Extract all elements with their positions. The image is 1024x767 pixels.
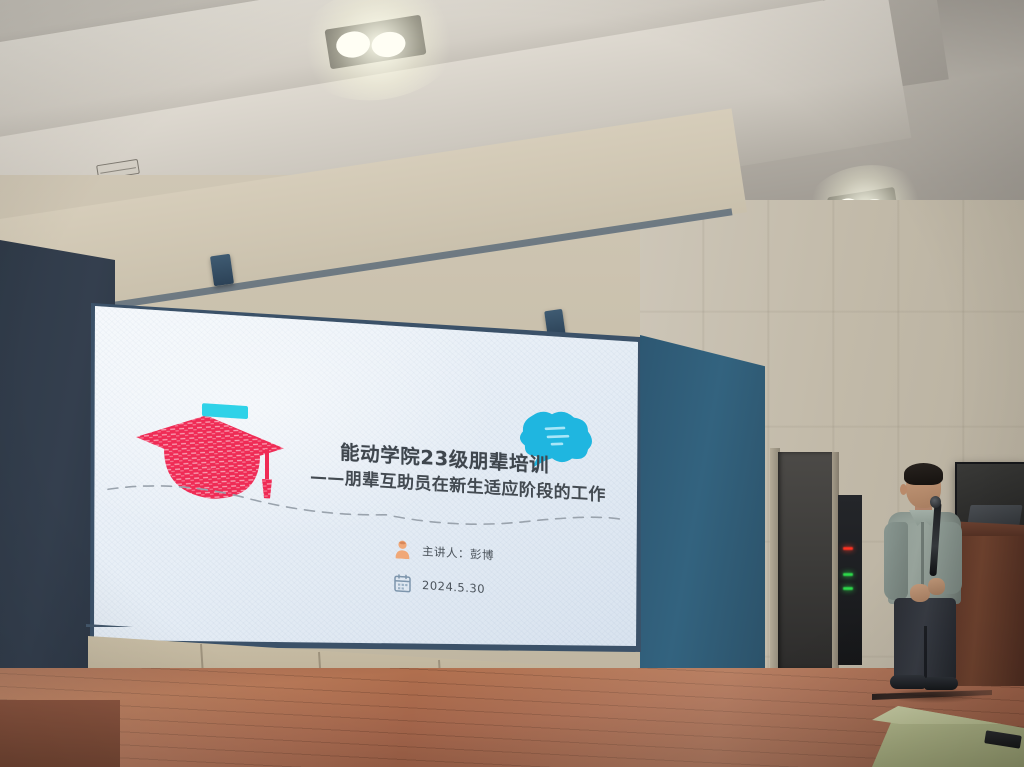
microphone-capsule — [930, 496, 941, 508]
rack-led-green-icon — [843, 573, 853, 576]
lecture-hall-scene: 能动学院23级朋辈培训 ——朋辈互助员在新生适应阶段的工作 — [0, 0, 1024, 767]
right-teal-wall-panel — [640, 335, 765, 725]
slide-meta-block: 主讲人：彭博 — [394, 539, 494, 613]
date-row: 2024.5.30 — [394, 573, 494, 598]
rack-led-green-icon — [843, 587, 853, 590]
presenter-shoe — [924, 677, 958, 690]
presenter-hair — [904, 463, 943, 485]
presenter-leg-seam — [924, 626, 927, 680]
projection-screen[interactable]: 能动学院23级朋辈培训 ——朋辈互助员在新生适应阶段的工作 — [88, 296, 644, 656]
rack-led-red-icon — [843, 547, 853, 550]
presenter-shoe — [890, 675, 926, 689]
ceiling-downlight-icon — [324, 15, 426, 70]
presenter-row: 主讲人：彭博 — [394, 539, 494, 564]
presenter-hand — [928, 578, 945, 595]
floor-left-shadow — [0, 700, 120, 767]
person-icon — [394, 539, 411, 559]
calendar-icon — [394, 573, 411, 593]
presenter-ear — [900, 484, 907, 495]
doorway[interactable] — [778, 452, 834, 670]
presenter — [884, 466, 968, 696]
equipment-rack — [838, 495, 862, 665]
date-label: 2024.5.30 — [422, 578, 485, 596]
floor-reflection — [0, 668, 1024, 767]
presenter-label: 主讲人：彭博 — [422, 543, 494, 564]
wall-speaker-icon — [210, 254, 234, 286]
presenter-hand — [910, 584, 930, 602]
presenter-left-arm — [884, 522, 908, 600]
